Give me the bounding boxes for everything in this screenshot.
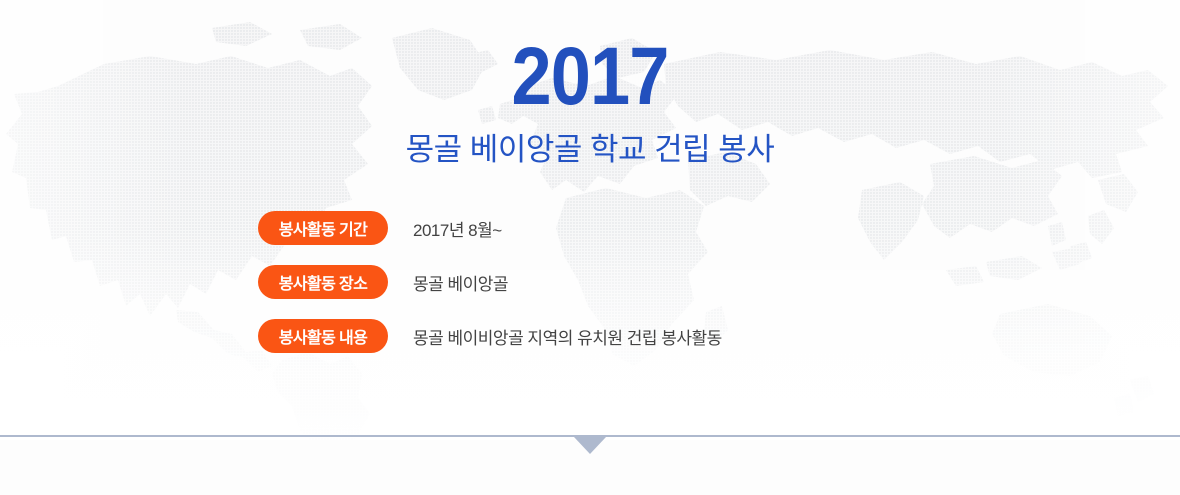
badge-location: 봉사활동 장소 [258,265,388,299]
badge-content: 봉사활동 내용 [258,319,388,353]
down-triangle-icon [574,437,606,454]
value-period: 2017년 8월~ [413,216,502,241]
value-content: 몽골 베이비앙골 지역의 유치원 건립 봉사활동 [413,324,722,349]
detail-list: 봉사활동 기간 2017년 8월~ 봉사활동 장소 몽골 베이앙골 봉사활동 내… [258,211,1058,353]
page-subtitle: 몽골 베이앙골 학교 건립 봉사 [0,116,1180,168]
banner-headline: 2017 몽골 베이앙골 학교 건립 봉사 [0,0,1180,168]
detail-row-period: 봉사활동 기간 2017년 8월~ [258,211,1058,245]
year-title: 2017 [71,0,1109,116]
value-location: 몽골 베이앙골 [413,270,508,295]
detail-row-location: 봉사활동 장소 몽골 베이앙골 [258,265,1058,299]
volunteer-banner: 2017 몽골 베이앙골 학교 건립 봉사 봉사활동 기간 2017년 8월~ … [0,0,1180,495]
detail-row-content: 봉사활동 내용 몽골 베이비앙골 지역의 유치원 건립 봉사활동 [258,319,1058,353]
badge-period: 봉사활동 기간 [258,211,388,245]
